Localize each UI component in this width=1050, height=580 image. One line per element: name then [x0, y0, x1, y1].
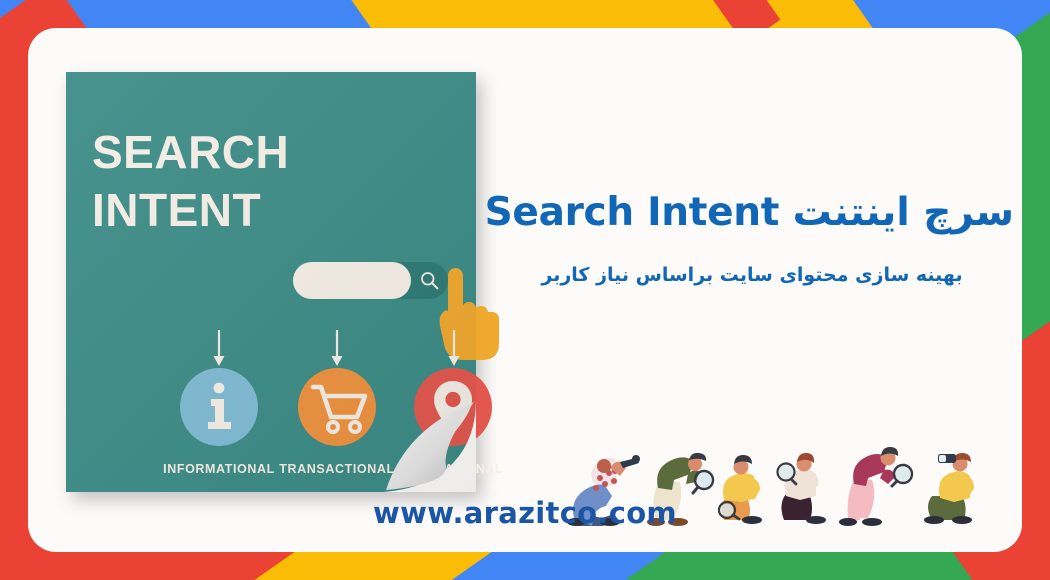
poster-title-line1: SEARCH: [92, 126, 289, 178]
website-url[interactable]: www.arazitco.com: [28, 496, 1022, 530]
arrow-down-transactional: [330, 330, 344, 368]
arrow-down-navigational: [447, 330, 461, 368]
poster-title: SEARCH INTENT: [92, 124, 289, 239]
intent-bubble-transactional[interactable]: [298, 368, 376, 446]
poster-canvas: SEARCH INTENT: [0, 0, 1050, 580]
search-bar[interactable]: [293, 262, 448, 299]
arrow-down-informational: [212, 330, 226, 368]
page-curl-icon: [384, 400, 476, 492]
search-input[interactable]: [293, 262, 411, 299]
shopping-cart-icon: [298, 368, 376, 446]
poster-title-line2: INTENT: [92, 182, 289, 240]
search-intent-poster: SEARCH INTENT: [66, 72, 476, 492]
content-card: SEARCH INTENT: [28, 28, 1022, 552]
headings-block: سرچ اینتنت Search Intent بهینه سازی محتو…: [490, 188, 1014, 289]
intent-bubble-informational[interactable]: [180, 368, 258, 446]
page-title: سرچ اینتنت Search Intent: [490, 188, 1014, 239]
info-icon: [180, 368, 258, 446]
page-subtitle: بهینه سازی محتوای سایت براساس نیاز کاربر: [490, 261, 1014, 290]
